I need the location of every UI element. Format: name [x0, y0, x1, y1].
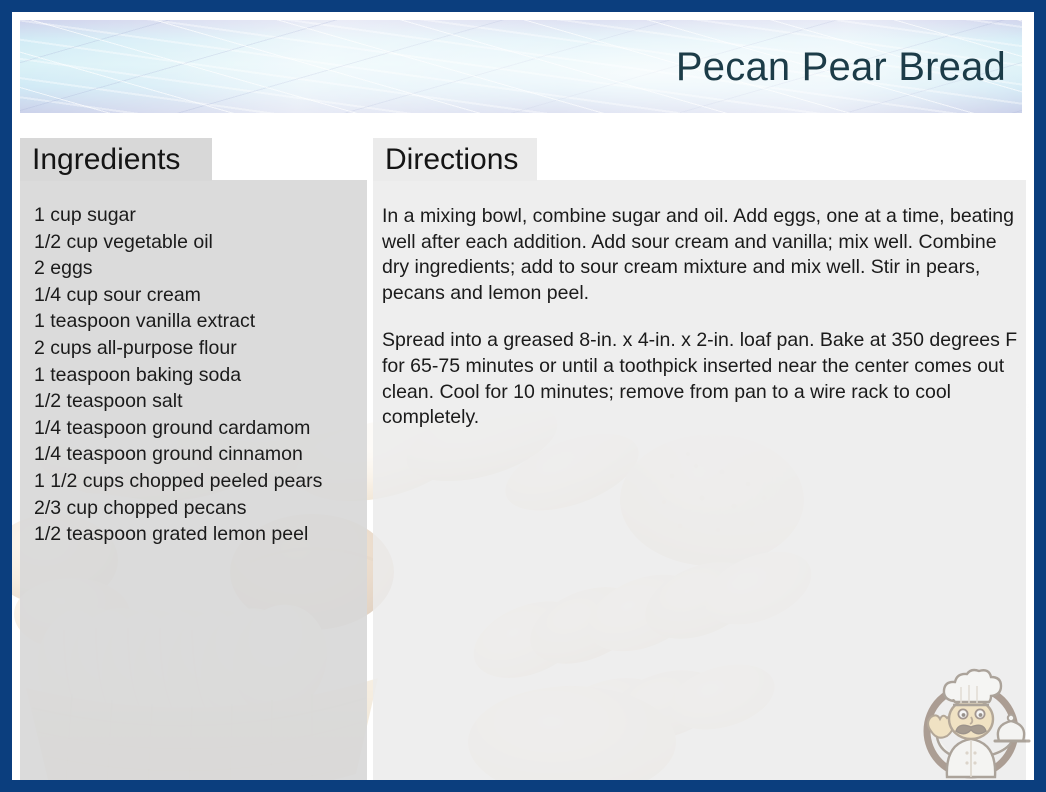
directions-header-tab: Directions [373, 138, 537, 181]
page-title: Pecan Pear Bread [676, 47, 1006, 87]
ingredients-header-tab: Ingredients [20, 138, 212, 181]
list-item: 1/2 teaspoon salt [34, 388, 364, 415]
ingredients-heading: Ingredients [32, 145, 180, 175]
list-item: 2 cups all-purpose flour [34, 335, 364, 362]
list-item: 1/4 teaspoon ground cardamom [34, 415, 364, 442]
title-banner: Pecan Pear Bread [20, 20, 1022, 113]
recipe-card: Pecan Pear Bread [0, 0, 1046, 792]
directions-paragraph: In a mixing bowl, combine sugar and oil.… [382, 204, 1022, 306]
directions-heading: Directions [385, 145, 518, 175]
directions-body: In a mixing bowl, combine sugar and oil.… [382, 204, 1022, 431]
ingredients-list: 1 cup sugar 1/2 cup vegetable oil 2 eggs… [34, 202, 364, 548]
list-item: 1/4 cup sour cream [34, 282, 364, 309]
list-item: 2 eggs [34, 255, 364, 282]
list-item: 1/2 cup vegetable oil [34, 229, 364, 256]
list-item: 1/2 teaspoon grated lemon peel [34, 521, 364, 548]
list-item: 2/3 cup chopped pecans [34, 495, 364, 522]
list-item: 1 teaspoon vanilla extract [34, 308, 364, 335]
directions-paragraph: Spread into a greased 8-in. x 4-in. x 2-… [382, 328, 1022, 430]
list-item: 1 cup sugar [34, 202, 364, 229]
list-item: 1/4 teaspoon ground cinnamon [34, 441, 364, 468]
list-item: 1 teaspoon baking soda [34, 362, 364, 389]
list-item: 1 1/2 cups chopped peeled pears [34, 468, 364, 495]
